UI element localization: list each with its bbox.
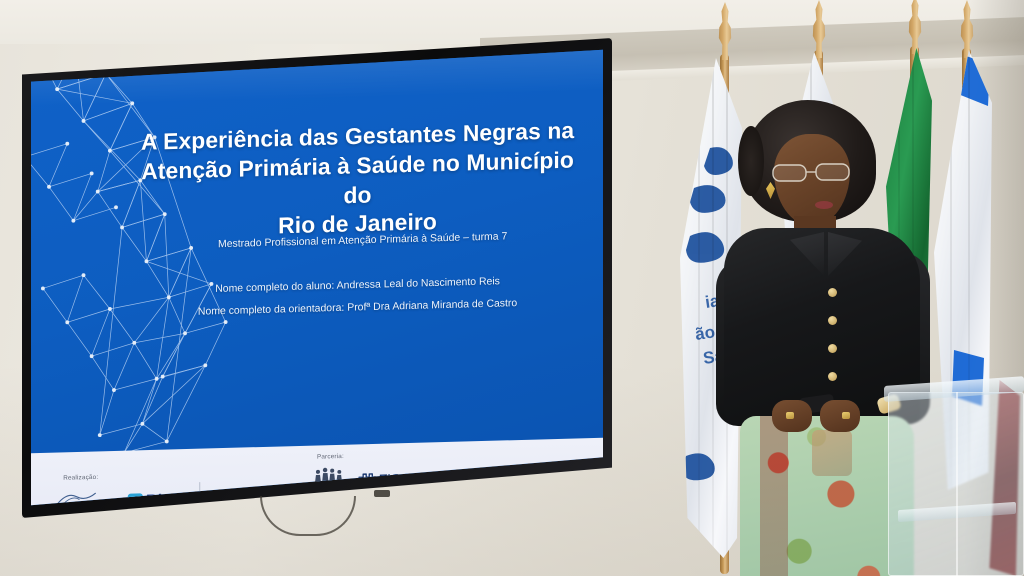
blouse-button: [828, 316, 837, 325]
slide-title: A Experiência das Gestantes Negras na At…: [134, 117, 581, 246]
trousers-drawstring: [812, 430, 852, 476]
ring-right: [842, 412, 850, 419]
slide-text-block: A Experiência das Gestantes Negras na At…: [31, 47, 603, 454]
wall-mounted-tv: A Experiência das Gestantes Negras na At…: [22, 38, 612, 518]
tv-screen: A Experiência das Gestantes Negras na At…: [31, 47, 603, 509]
lectern-edge-highlight: [956, 392, 958, 576]
presenter-hand-right: [820, 400, 860, 432]
presentation-photo-scene: ia ão Sa: [0, 0, 1024, 576]
blouse-button: [828, 288, 837, 297]
presenter-lips: [815, 201, 833, 209]
presentation-slide: A Experiência das Gestantes Negras na At…: [31, 47, 603, 509]
trousers-side-panel: [760, 416, 788, 576]
ring-left: [786, 412, 794, 419]
blouse-button: [828, 372, 837, 381]
flag-finial-icon: [904, 0, 926, 54]
screen-glint: [110, 47, 232, 59]
realization-label: Realização:: [63, 474, 98, 482]
flag-finial-icon: [714, 2, 736, 60]
partnership-label: Parceria:: [317, 453, 344, 461]
flag-finial-icon: [808, 0, 830, 58]
flag-finial-icon: [956, 0, 978, 58]
eyeglasses-icon: [772, 162, 854, 184]
blouse-button: [828, 344, 837, 353]
tv-wall-mount: [374, 490, 390, 497]
slide-author-block: Nome completo do aluno: Andressa Leal do…: [124, 269, 591, 326]
saude-label: SAÚDE: [213, 504, 239, 509]
